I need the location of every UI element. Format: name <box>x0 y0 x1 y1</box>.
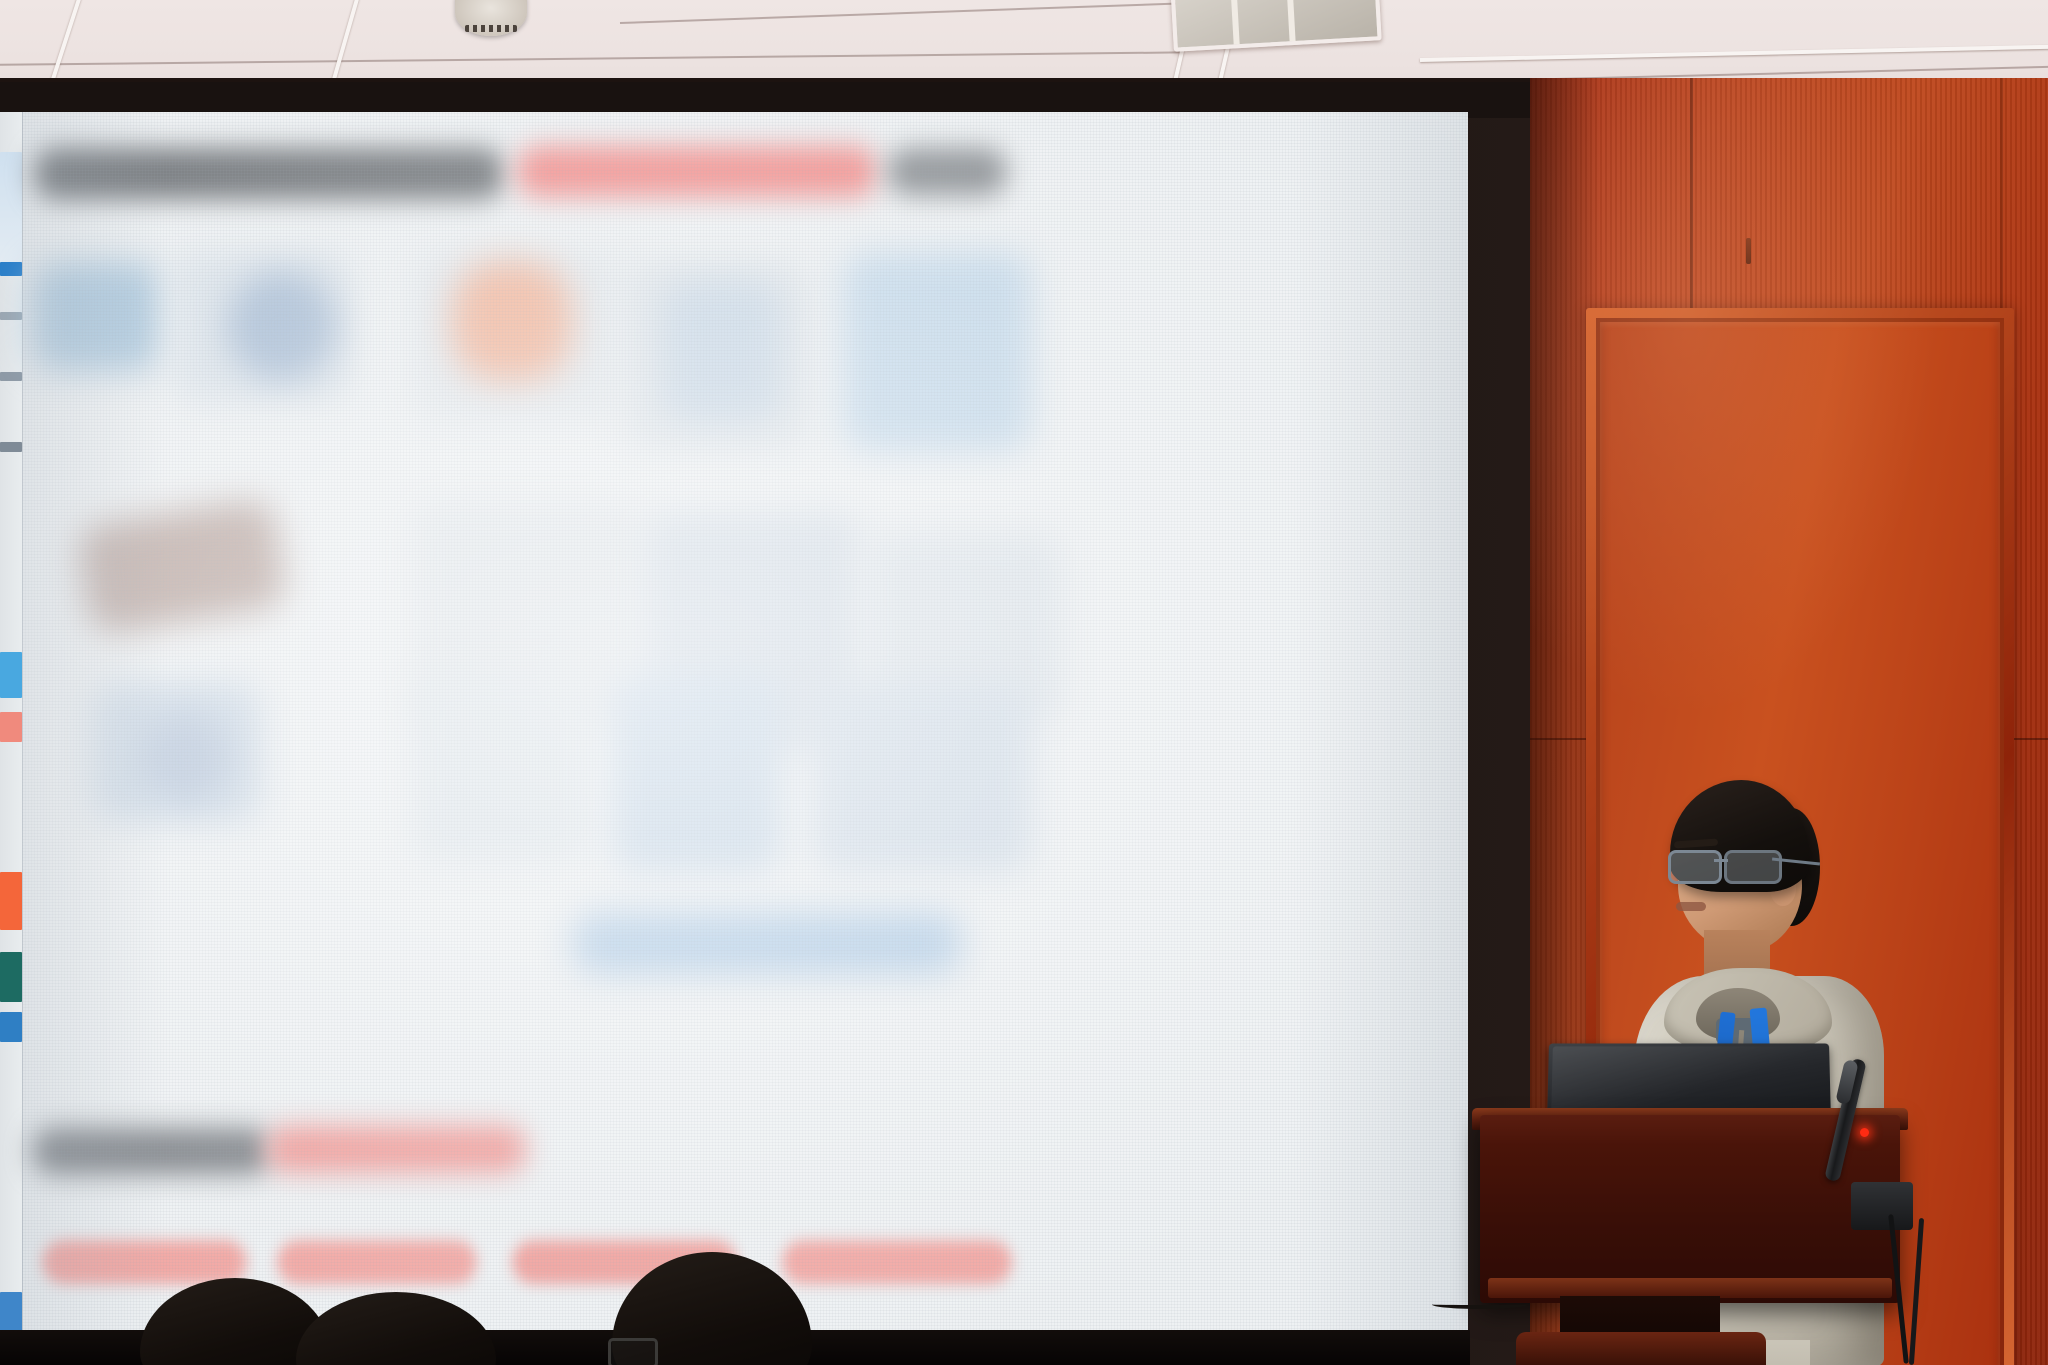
lectern-foot <box>1516 1332 1766 1365</box>
microphone-base <box>1851 1182 1913 1230</box>
lectern-base-trim <box>1488 1278 1892 1298</box>
glasses-icon <box>1668 850 1788 880</box>
audience-glasses-icon <box>608 1338 658 1365</box>
slide-content <box>22 112 1468 1365</box>
microphone-status-led <box>1860 1128 1869 1137</box>
powerpoint-thumbnail-strip <box>0 112 23 1365</box>
ceiling-light-fixture <box>1170 0 1381 52</box>
presentation-photo-scene: 实验验证与前景 Joule 2025(9): 102193 <box>0 0 2048 1365</box>
smoke-detector-icon <box>455 0 527 36</box>
projection-screen: 实验验证与前景 Joule 2025(9): 102193 <box>0 112 1468 1365</box>
floor-cable <box>1432 1300 1528 1309</box>
mouth <box>1676 902 1706 911</box>
